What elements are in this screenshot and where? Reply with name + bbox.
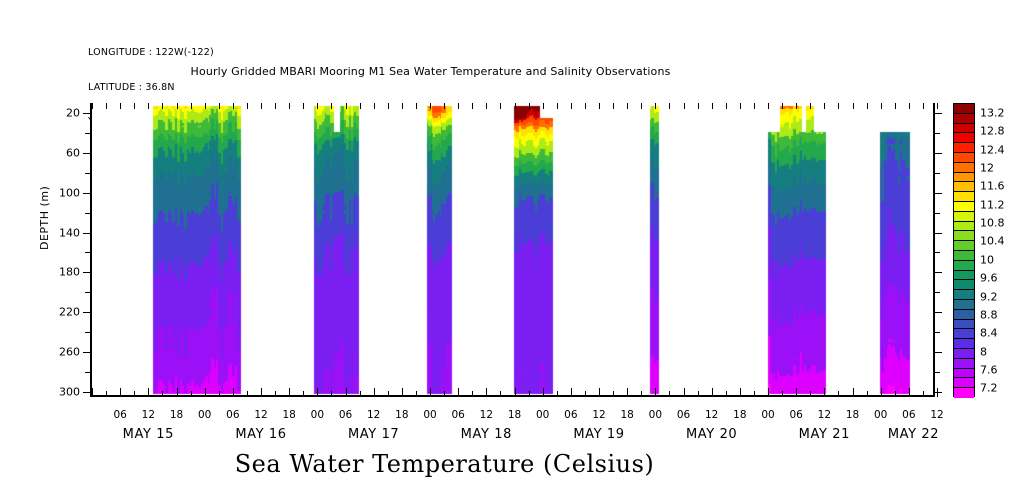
- colorbar-band: [954, 202, 974, 212]
- x-axis-hour-label: 18: [282, 409, 295, 421]
- x-axis-day-label: MAY 20: [686, 427, 737, 442]
- x-axis-top-tick: [331, 103, 332, 109]
- y-axis-minor-tick-right: [935, 173, 940, 174]
- x-axis-hour-label: 06: [902, 409, 915, 421]
- x-axis-hour-label: 06: [451, 409, 464, 421]
- x-axis-top-tick: [684, 103, 685, 109]
- colorbar-band: [954, 261, 974, 271]
- x-axis-tick: [444, 391, 445, 397]
- x-axis-tick: [486, 388, 487, 397]
- x-axis-top-tick: [233, 103, 234, 109]
- y-axis-tick-right: [935, 352, 942, 353]
- y-axis-minor-tick: [85, 252, 90, 253]
- x-axis-day-label: MAY 19: [573, 427, 624, 442]
- y-axis-tick-label: 100: [59, 186, 80, 199]
- x-axis-top-tick: [937, 103, 938, 109]
- y-axis-tick-right: [935, 113, 942, 114]
- colorbar-band: [954, 163, 974, 173]
- x-axis-tick: [669, 391, 670, 397]
- y-axis-tick: [83, 113, 90, 114]
- plot-area: 2060100140180220260300061218000612180006…: [90, 103, 935, 397]
- colorbar-tick-label: 13.2: [980, 106, 1005, 119]
- x-axis-tick: [106, 391, 107, 397]
- x-axis-tick: [233, 388, 234, 397]
- x-axis-top-tick: [571, 103, 572, 109]
- x-axis-tick: [275, 391, 276, 397]
- x-axis-hour-label: 06: [226, 409, 239, 421]
- x-axis-hour-label: 18: [508, 409, 521, 421]
- y-axis-tick: [83, 233, 90, 234]
- x-axis-day-label: MAY 17: [348, 427, 399, 442]
- x-axis-tick: [585, 391, 586, 397]
- colorbar-tick-label: 8.4: [980, 327, 998, 340]
- x-axis-top-tick: [148, 103, 149, 109]
- x-axis-tick: [205, 388, 206, 397]
- x-axis-hour-label: 12: [930, 409, 943, 421]
- y-axis-minor-tick-right: [935, 133, 940, 134]
- colorbar-band: [954, 388, 974, 398]
- x-axis-top-tick: [360, 103, 361, 109]
- x-axis-hour-label: 18: [395, 409, 408, 421]
- x-axis-top-tick: [162, 103, 163, 109]
- x-axis-top-tick: [205, 103, 206, 109]
- x-axis-tick: [853, 388, 854, 397]
- y-axis-tick-label: 20: [66, 106, 80, 119]
- x-axis-top-tick: [92, 103, 93, 109]
- x-axis-hour-label: 00: [311, 409, 324, 421]
- x-axis-top-tick: [599, 103, 600, 109]
- x-axis-tick: [796, 388, 797, 397]
- x-axis-tick: [881, 388, 882, 397]
- colorbar-band: [954, 114, 974, 124]
- y-axis-tick-right: [935, 153, 942, 154]
- colorbar-band: [954, 104, 974, 114]
- x-axis-top-tick: [726, 103, 727, 109]
- x-axis-top-tick: [782, 103, 783, 109]
- x-axis-top-tick: [430, 103, 431, 109]
- x-axis-top-tick: [895, 103, 896, 109]
- x-axis-hour-label: 06: [677, 409, 690, 421]
- y-axis-tick-right: [935, 233, 942, 234]
- colorbar-tick-label: 9.2: [980, 290, 998, 303]
- y-axis-tick: [83, 352, 90, 353]
- x-axis-top-tick: [838, 103, 839, 109]
- x-axis-hour-label: 18: [733, 409, 746, 421]
- x-axis-tick: [895, 391, 896, 397]
- x-axis-tick: [261, 388, 262, 397]
- y-axis-tick-label: 140: [59, 226, 80, 239]
- colorbar-tick-label: 10: [980, 253, 994, 266]
- x-axis-top-tick: [754, 103, 755, 109]
- colorbar-band: [954, 280, 974, 290]
- colorbar-band: [954, 329, 974, 339]
- x-axis-hour-label: 18: [620, 409, 633, 421]
- x-axis-top-tick: [796, 103, 797, 109]
- x-axis-top-tick: [909, 103, 910, 109]
- y-axis-tick-label: 220: [59, 306, 80, 319]
- x-axis-top-tick: [881, 103, 882, 109]
- colorbar-band: [954, 378, 974, 388]
- x-axis-hour-label: 12: [480, 409, 493, 421]
- x-axis-top-tick: [402, 103, 403, 109]
- x-axis-tick: [698, 391, 699, 397]
- colorbar-band: [954, 320, 974, 330]
- colorbar-band: [954, 173, 974, 183]
- colorbar-band: [954, 349, 974, 359]
- heatmap-canvas-wrap: [92, 103, 937, 397]
- x-axis-tick: [726, 391, 727, 397]
- x-axis-tick: [402, 388, 403, 397]
- x-axis-tick: [500, 391, 501, 397]
- colorbar-tick-label: 10.4: [980, 235, 1005, 248]
- x-axis-top-tick: [529, 103, 530, 109]
- colorbar-band: [954, 133, 974, 143]
- x-axis-top-tick: [867, 103, 868, 109]
- x-axis-tick: [360, 391, 361, 397]
- x-axis-top-tick: [810, 103, 811, 109]
- x-axis-tick: [557, 391, 558, 397]
- x-axis-hour-label: 12: [254, 409, 267, 421]
- y-axis-minor-tick: [85, 173, 90, 174]
- colorbar-band: [954, 192, 974, 202]
- x-axis-top-tick: [824, 103, 825, 109]
- x-axis-tick: [923, 391, 924, 397]
- colorbar-band: [954, 212, 974, 222]
- y-axis-tick-label: 300: [59, 386, 80, 399]
- x-axis-tick: [768, 388, 769, 397]
- x-axis-top-tick: [275, 103, 276, 109]
- colorbar-band: [954, 300, 974, 310]
- y-axis-title: DEPTH (m): [38, 186, 51, 250]
- x-axis-top-tick: [416, 103, 417, 109]
- colorbar-tick-label: 8: [980, 345, 987, 358]
- y-axis-minor-tick-right: [935, 332, 940, 333]
- x-axis-top-tick: [923, 103, 924, 109]
- x-axis-top-tick: [627, 103, 628, 109]
- x-axis-top-tick: [219, 103, 220, 109]
- x-axis-tick: [613, 391, 614, 397]
- colorbar-tick-label: 10.8: [980, 217, 1005, 230]
- x-axis-tick: [162, 391, 163, 397]
- x-axis-hour-label: 06: [564, 409, 577, 421]
- colorbar-band: [954, 124, 974, 134]
- colorbar-band: [954, 231, 974, 241]
- x-axis-tick: [810, 391, 811, 397]
- x-axis-top-tick: [317, 103, 318, 109]
- x-axis-tick: [937, 388, 938, 397]
- x-axis-hour-label: 12: [818, 409, 831, 421]
- y-axis-minor-tick: [85, 213, 90, 214]
- x-axis-day-label: MAY 22: [888, 427, 939, 442]
- x-axis-tick: [543, 388, 544, 397]
- x-axis-hour-label: 18: [846, 409, 859, 421]
- y-axis-tick-label: 260: [59, 346, 80, 359]
- x-axis-top-tick: [458, 103, 459, 109]
- x-axis-tick: [331, 391, 332, 397]
- y-axis-tick-label: 60: [66, 146, 80, 159]
- colorbar-tick-label: 12.4: [980, 143, 1005, 156]
- x-axis-tick: [684, 388, 685, 397]
- x-axis-hour-label: 12: [142, 409, 155, 421]
- x-axis-tick: [627, 388, 628, 397]
- x-axis-tick: [148, 388, 149, 397]
- x-axis-hour-label: 18: [170, 409, 183, 421]
- x-axis-top-tick: [346, 103, 347, 109]
- longitude-text: LONGITUDE : 122W(-122): [88, 47, 214, 59]
- x-axis-tick: [177, 388, 178, 397]
- x-axis-top-tick: [500, 103, 501, 109]
- x-axis-tick: [641, 391, 642, 397]
- x-axis-top-tick: [655, 103, 656, 109]
- x-axis-top-tick: [613, 103, 614, 109]
- x-axis-tick: [134, 391, 135, 397]
- x-axis-hour-label: 00: [198, 409, 211, 421]
- x-axis-tick: [712, 388, 713, 397]
- x-axis-tick: [909, 388, 910, 397]
- chart-title: Hourly Gridded MBARI Mooring M1 Sea Wate…: [0, 65, 935, 78]
- x-axis-top-tick: [247, 103, 248, 109]
- x-axis-hour-label: 00: [649, 409, 662, 421]
- x-axis-top-tick: [388, 103, 389, 109]
- x-axis-tick: [247, 391, 248, 397]
- x-axis-tick: [740, 388, 741, 397]
- y-axis-tick: [83, 153, 90, 154]
- x-axis-tick: [317, 388, 318, 397]
- y-axis-tick: [83, 193, 90, 194]
- x-axis-hour-label: 12: [592, 409, 605, 421]
- x-axis-top-tick: [472, 103, 473, 109]
- colorbar-band: [954, 290, 974, 300]
- x-axis-tick: [430, 388, 431, 397]
- x-axis-top-tick: [543, 103, 544, 109]
- colorbar-band: [954, 339, 974, 349]
- latitude-text: LATITUDE : 36.8N: [88, 82, 214, 94]
- y-axis-minor-tick: [85, 133, 90, 134]
- x-axis-day-label: MAY 16: [235, 427, 286, 442]
- colorbar-band: [954, 271, 974, 281]
- x-axis-top-tick: [669, 103, 670, 109]
- colorbar-tick-label: 9.6: [980, 272, 998, 285]
- colorbar-band: [954, 143, 974, 153]
- x-axis-tick: [472, 391, 473, 397]
- x-axis-tick: [824, 388, 825, 397]
- x-axis-tick: [289, 388, 290, 397]
- colorbar-tick-label: 7.6: [980, 364, 998, 377]
- x-axis-tick: [374, 388, 375, 397]
- y-axis-minor-tick: [85, 292, 90, 293]
- y-axis-tick-label: 180: [59, 266, 80, 279]
- x-axis-top-tick: [444, 103, 445, 109]
- x-axis-tick: [782, 391, 783, 397]
- x-axis-top-tick: [740, 103, 741, 109]
- x-axis-hour-label: 00: [423, 409, 436, 421]
- x-axis-top-tick: [289, 103, 290, 109]
- temperature-heatmap: [92, 103, 937, 397]
- y-axis-minor-tick: [85, 372, 90, 373]
- colorbar-tick-label: 12.8: [980, 125, 1005, 138]
- x-axis-tick: [303, 391, 304, 397]
- colorbar-band: [954, 369, 974, 379]
- x-axis-hour-label: 06: [339, 409, 352, 421]
- x-axis-top-tick: [768, 103, 769, 109]
- y-axis-tick-right: [935, 312, 942, 313]
- colorbar-band: [954, 359, 974, 369]
- x-axis-top-tick: [106, 103, 107, 109]
- x-axis-top-tick: [134, 103, 135, 109]
- x-axis-tick: [388, 391, 389, 397]
- x-axis-tick: [458, 388, 459, 397]
- x-axis-hour-label: 00: [536, 409, 549, 421]
- colorbar-band: [954, 241, 974, 251]
- colorbar-tick-label: 11.2: [980, 198, 1005, 211]
- x-axis-top-tick: [177, 103, 178, 109]
- colorbar-tick-label: 12: [980, 161, 994, 174]
- x-axis-top-tick: [191, 103, 192, 109]
- colorbar-band: [954, 310, 974, 320]
- x-axis-tick: [867, 391, 868, 397]
- x-axis-hour-label: 00: [874, 409, 887, 421]
- x-axis-top-tick: [261, 103, 262, 109]
- x-axis-top-tick: [698, 103, 699, 109]
- x-axis-top-tick: [515, 103, 516, 109]
- x-axis-tick: [346, 388, 347, 397]
- x-axis-day-label: MAY 15: [123, 427, 174, 442]
- plot-right-border: [933, 103, 935, 397]
- colorbar-band: [954, 182, 974, 192]
- x-axis-tick: [529, 391, 530, 397]
- x-axis-tick: [416, 391, 417, 397]
- x-axis-tick: [655, 388, 656, 397]
- x-axis-hour-label: 12: [705, 409, 718, 421]
- x-axis-tick: [599, 388, 600, 397]
- colorbar-band: [954, 251, 974, 261]
- x-axis-top-tick: [712, 103, 713, 109]
- colorbar-band: [954, 222, 974, 232]
- y-axis-minor-tick-right: [935, 213, 940, 214]
- y-axis-minor-tick-right: [935, 252, 940, 253]
- x-axis-tick: [515, 388, 516, 397]
- x-axis-hour-label: 00: [761, 409, 774, 421]
- y-axis-tick: [83, 312, 90, 313]
- x-axis-hour-label: 06: [789, 409, 802, 421]
- colorbar-band: [954, 153, 974, 163]
- y-axis-tick-right: [935, 193, 942, 194]
- x-axis-tick: [191, 391, 192, 397]
- y-axis-tick: [83, 392, 90, 393]
- y-axis-tick-right: [935, 272, 942, 273]
- x-axis-day-label: MAY 18: [461, 427, 512, 442]
- x-axis-top-tick: [557, 103, 558, 109]
- y-axis-tick: [83, 272, 90, 273]
- x-axis-tick: [219, 391, 220, 397]
- x-axis-tick: [92, 388, 93, 397]
- x-axis-hour-label: 12: [367, 409, 380, 421]
- x-axis-hour-label: 06: [113, 409, 126, 421]
- y-axis-minor-tick: [85, 332, 90, 333]
- colorbar-tick-label: 8.8: [980, 308, 998, 321]
- x-axis-top-tick: [120, 103, 121, 109]
- x-axis-title: Sea Water Temperature (Celsius): [0, 450, 949, 478]
- x-axis-tick: [838, 391, 839, 397]
- colorbar-tick-label: 7.2: [980, 382, 998, 395]
- y-axis-minor-tick-right: [935, 292, 940, 293]
- x-axis-day-label: MAY 21: [799, 427, 850, 442]
- x-axis-top-tick: [374, 103, 375, 109]
- colorbar: [953, 103, 975, 397]
- colorbar-tick-label: 11.6: [980, 180, 1005, 193]
- x-axis-top-tick: [486, 103, 487, 109]
- y-axis-minor-tick-right: [935, 372, 940, 373]
- x-axis-top-tick: [641, 103, 642, 109]
- x-axis-top-tick: [585, 103, 586, 109]
- x-axis-top-tick: [853, 103, 854, 109]
- x-axis-tick: [571, 388, 572, 397]
- x-axis-top-tick: [303, 103, 304, 109]
- x-axis-tick: [754, 391, 755, 397]
- x-axis-tick: [120, 388, 121, 397]
